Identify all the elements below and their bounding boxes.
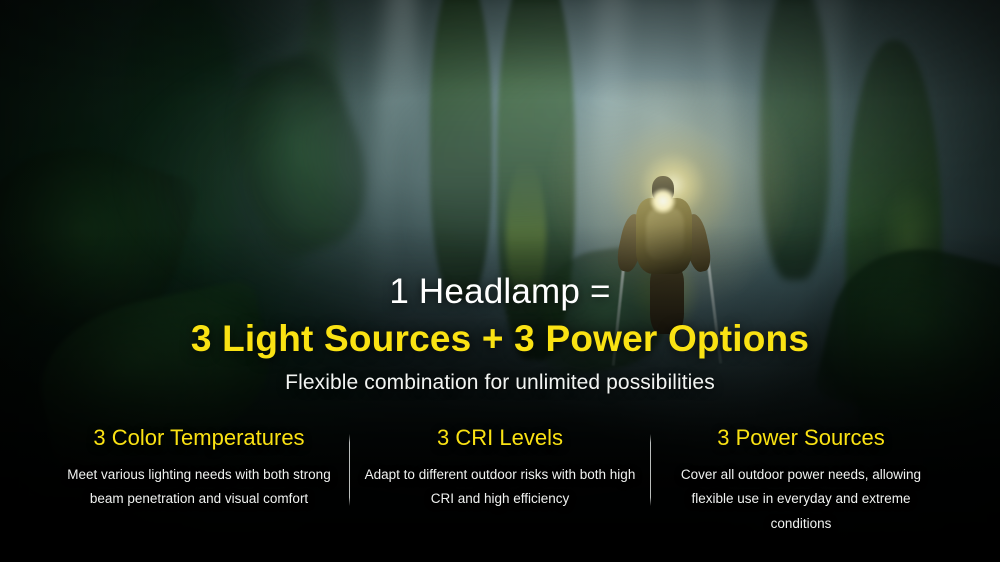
feature-columns: 3 Color Temperatures Meet various lighti… bbox=[0, 424, 1000, 537]
headline-block: 1 Headlamp = 3 Light Sources + 3 Power O… bbox=[0, 272, 1000, 395]
headline-line-1: 1 Headlamp = bbox=[0, 272, 1000, 312]
feature-cri-levels: 3 CRI Levels Adapt to different outdoor … bbox=[350, 424, 650, 512]
feature-description: Cover all outdoor power needs, allowing … bbox=[665, 463, 937, 538]
feature-title: 3 Power Sources bbox=[665, 424, 937, 452]
feature-color-temperatures: 3 Color Temperatures Meet various lighti… bbox=[49, 424, 349, 512]
feature-description: Meet various lighting needs with both st… bbox=[63, 463, 335, 513]
feature-title: 3 Color Temperatures bbox=[63, 424, 335, 452]
feature-description: Adapt to different outdoor risks with bo… bbox=[364, 463, 636, 513]
headline-line-2: 3 Light Sources + 3 Power Options bbox=[0, 318, 1000, 359]
feature-power-sources: 3 Power Sources Cover all outdoor power … bbox=[651, 424, 951, 537]
feature-title: 3 CRI Levels bbox=[364, 424, 636, 452]
promo-banner: 1 Headlamp = 3 Light Sources + 3 Power O… bbox=[0, 0, 1000, 562]
banner-content: 1 Headlamp = 3 Light Sources + 3 Power O… bbox=[0, 0, 1000, 562]
headline-subtitle: Flexible combination for unlimited possi… bbox=[0, 370, 1000, 395]
